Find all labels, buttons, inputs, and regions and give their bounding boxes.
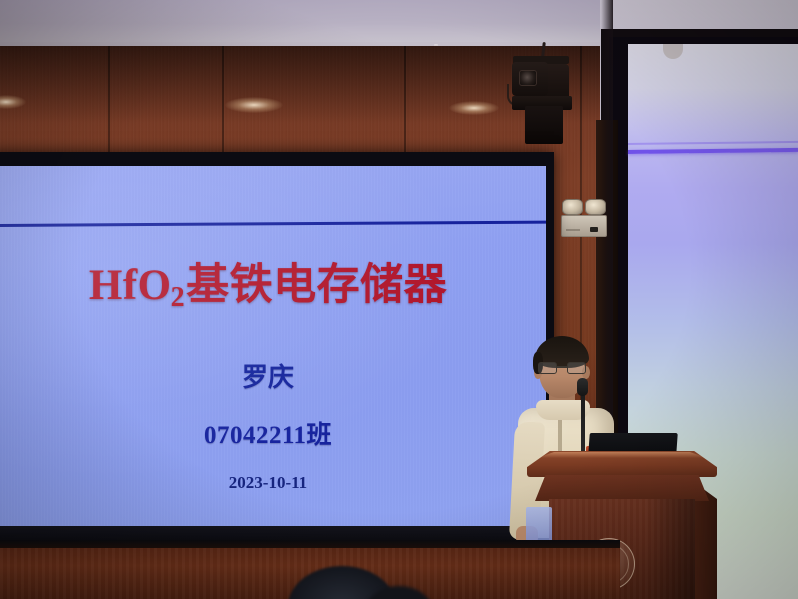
slide-title-formula-subscript: 2: [171, 282, 186, 313]
slide-title: HfO2基铁电存储器: [89, 264, 447, 307]
emergency-light-slot: [566, 229, 580, 231]
emergency-light-led: [590, 227, 598, 232]
podium-shading: [645, 499, 695, 599]
podium-top-highlight: [537, 452, 707, 458]
slide-class: 07042211班: [204, 415, 332, 451]
lecture-hall-photo: HfO2基铁电存储器 罗庆 07042211班 2023-10-11: [0, 0, 798, 599]
emergency-lamp-icon: [585, 199, 606, 215]
slide-content: HfO2基铁电存储器 罗庆 07042211班 2023-10-11: [0, 166, 546, 526]
podium-control-panel: [526, 507, 552, 543]
slide-title-text: 基铁电存储器: [186, 262, 447, 309]
glasses-lens-left: [538, 362, 557, 374]
ptz-camera-wall-mount: [525, 106, 563, 144]
glasses-bridge: [557, 366, 567, 368]
microphone-icon: [577, 378, 588, 396]
glasses-lens-right: [567, 362, 586, 374]
slide-title-formula-main: HfO: [89, 262, 172, 309]
slide-author: 罗庆: [242, 357, 294, 394]
emergency-lamp-icon: [562, 199, 583, 215]
glasses-icon: [538, 362, 586, 374]
projection-screen: HfO2基铁电存储器 罗庆 07042211班 2023-10-11: [0, 166, 546, 526]
slide-date: 2023-10-11: [229, 473, 307, 493]
podium-apron: [535, 475, 709, 501]
emergency-light: [561, 215, 607, 237]
